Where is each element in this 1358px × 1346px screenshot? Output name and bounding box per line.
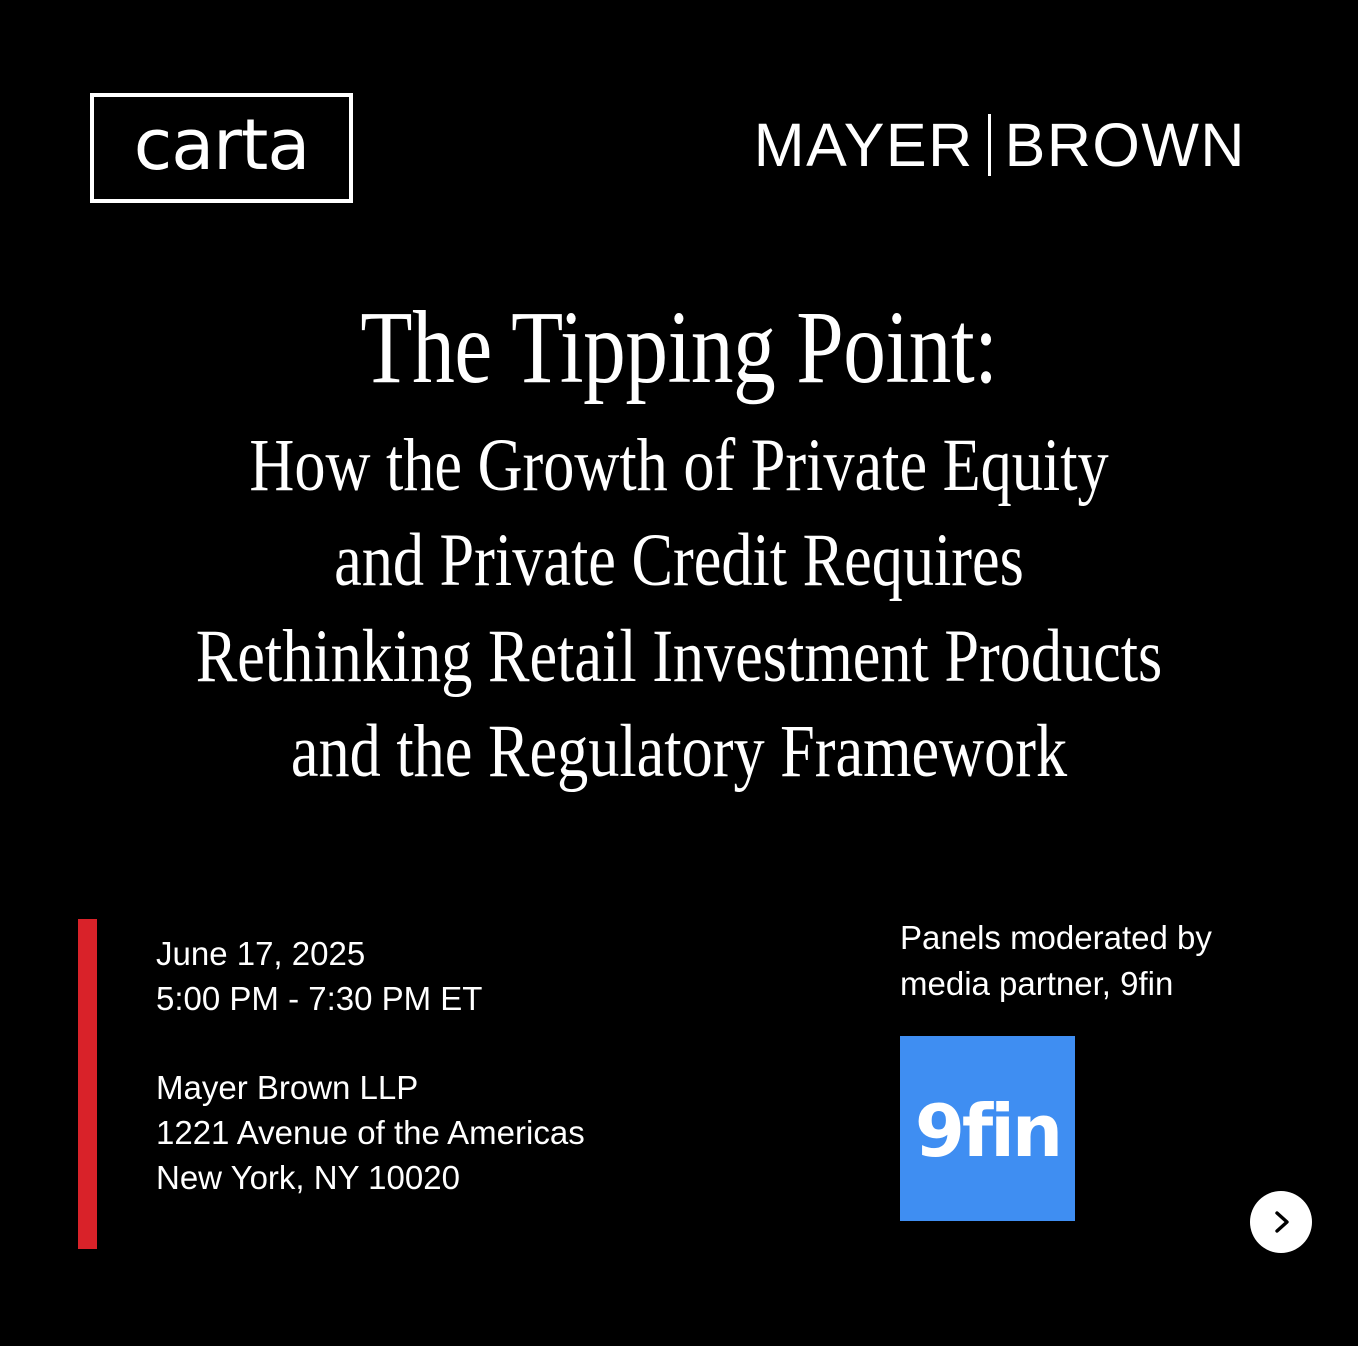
page-title: The Tipping Point: How the Growth of Pri…: [0, 296, 1358, 799]
event-time: 5:00 PM - 7:30 PM ET: [156, 977, 585, 1022]
event-promo-slide: carta MAYER BROWN The Tipping Point: How…: [0, 0, 1358, 1346]
event-venue-group: Mayer Brown LLP 1221 Avenue of the Ameri…: [156, 1066, 585, 1201]
event-details: June 17, 2025 5:00 PM - 7:30 PM ET Mayer…: [78, 919, 718, 1249]
logo-header: carta MAYER BROWN: [0, 0, 1358, 250]
event-date: June 17, 2025: [156, 932, 585, 977]
event-datetime-group: June 17, 2025 5:00 PM - 7:30 PM ET: [156, 932, 585, 1022]
carta-logo: carta: [90, 93, 353, 203]
media-partner-block: Panels moderated by media partner, 9fin …: [900, 915, 1260, 1006]
mayer-brown-logo: MAYER BROWN: [754, 108, 1246, 182]
event-venue-name: Mayer Brown LLP: [156, 1066, 585, 1111]
chevron-right-icon: [1268, 1209, 1294, 1235]
mayer-brown-logo-first-word: MAYER: [754, 115, 974, 176]
carousel-next-button[interactable]: [1250, 1191, 1312, 1253]
media-partner-note-line-2: media partner, 9fin: [900, 961, 1260, 1007]
title-subtitle-line-1: How the Growth of Private Equity: [115, 418, 1242, 513]
title-subtitle-line-2: and Private Credit Requires: [115, 513, 1242, 608]
title-subtitle-line-3: Rethinking Retail Investment Products: [115, 609, 1242, 704]
title-main-line: The Tipping Point:: [122, 296, 1236, 400]
ninefin-logo: 9fin: [900, 1036, 1075, 1221]
media-partner-note-line-1: Panels moderated by: [900, 915, 1260, 961]
mayer-brown-logo-divider: [988, 114, 991, 176]
event-details-text: June 17, 2025 5:00 PM - 7:30 PM ET Mayer…: [156, 932, 585, 1200]
event-venue-street: 1221 Avenue of the Americas: [156, 1111, 585, 1156]
ninefin-logo-wordmark: 9fin: [915, 1095, 1060, 1167]
mayer-brown-logo-second-word: BROWN: [1005, 115, 1246, 176]
red-accent-bar: [78, 919, 97, 1249]
media-partner-note: Panels moderated by media partner, 9fin: [900, 915, 1260, 1006]
title-subtitle-line-4: and the Regulatory Framework: [115, 704, 1242, 799]
event-venue-city: New York, NY 10020: [156, 1156, 585, 1201]
carta-logo-wordmark: carta: [134, 110, 310, 180]
